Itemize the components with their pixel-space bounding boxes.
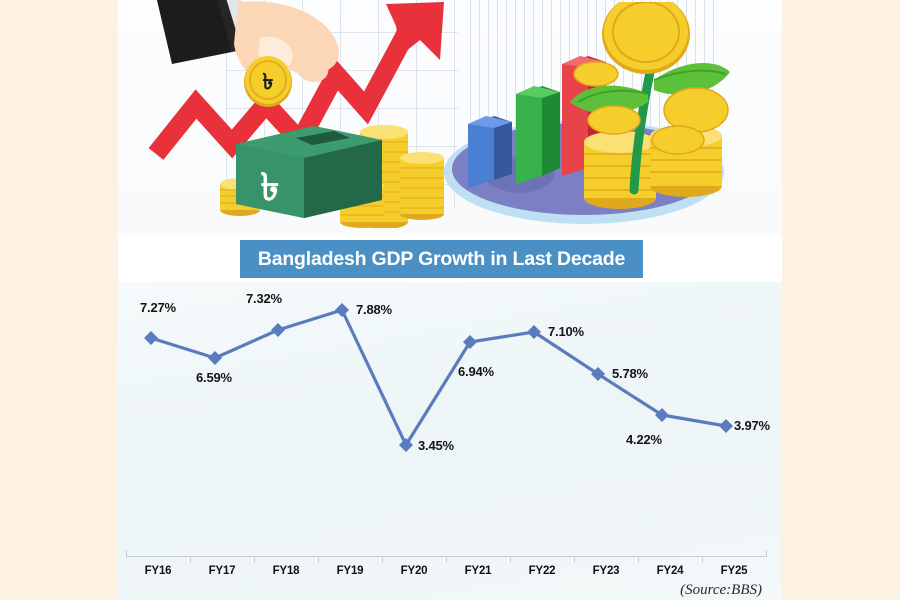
infographic-card: ৳ — [118, 0, 782, 600]
x-axis-label-fy20: FY20 — [401, 565, 428, 577]
x-axis-label-fy23: FY23 — [593, 565, 620, 577]
data-label-fy25: 3.97% — [734, 418, 770, 433]
data-label-fy17: 6.59% — [196, 370, 232, 385]
axis-tick — [446, 556, 447, 563]
axis-cap-left — [126, 550, 127, 557]
axis-tick — [382, 556, 383, 563]
data-label-fy23: 5.78% — [612, 366, 648, 381]
infographic-page: ৳ — [0, 0, 900, 600]
chart-title-banner: Bangladesh GDP Growth in Last Decade — [240, 240, 643, 278]
gdp-growth-line-chart: 7.27% 6.59% 7.32% 7.88% 3.45% 6.94% 7.10… — [118, 282, 782, 600]
axis-tick — [254, 556, 255, 563]
axis-cap-right — [766, 550, 767, 557]
x-axis-label-fy19: FY19 — [337, 565, 364, 577]
axis-tick — [702, 556, 703, 563]
data-label-fy18: 7.32% — [246, 291, 282, 306]
x-axis-label-fy24: FY24 — [657, 565, 684, 577]
money-box-with-coins-icon: ৳ — [218, 118, 458, 228]
source-attribution: (Source:BBS) — [680, 582, 762, 599]
axis-tick — [190, 556, 191, 563]
bar-green — [516, 86, 560, 184]
globe-bar-chart-money-plant-icon — [438, 2, 738, 232]
svg-text:৳: ৳ — [261, 167, 280, 209]
data-label-fy22: 7.10% — [548, 324, 584, 339]
svg-text:৳: ৳ — [263, 69, 274, 94]
taka-coin-icon: ৳ — [242, 54, 294, 108]
x-axis-label-fy18: FY18 — [273, 565, 300, 577]
axis-tick — [510, 556, 511, 563]
line-chart-plot — [118, 282, 782, 552]
data-label-fy19: 7.88% — [356, 302, 392, 317]
data-label-fy20: 3.45% — [418, 438, 454, 453]
header-illustration: ৳ — [118, 0, 782, 236]
x-axis-label-fy17: FY17 — [209, 565, 236, 577]
data-label-fy21: 6.94% — [458, 364, 494, 379]
axis-tick — [638, 556, 639, 563]
x-axis-label-fy25: FY25 — [721, 565, 748, 577]
x-axis-label-fy16: FY16 — [145, 565, 172, 577]
axis-tick — [318, 556, 319, 563]
data-label-fy16: 7.27% — [140, 300, 176, 315]
data-label-fy24: 4.22% — [626, 432, 662, 447]
axis-tick — [574, 556, 575, 563]
x-axis-label-fy22: FY22 — [529, 565, 556, 577]
x-axis-label-fy21: FY21 — [465, 565, 492, 577]
chart-title: Bangladesh GDP Growth in Last Decade — [258, 248, 625, 271]
